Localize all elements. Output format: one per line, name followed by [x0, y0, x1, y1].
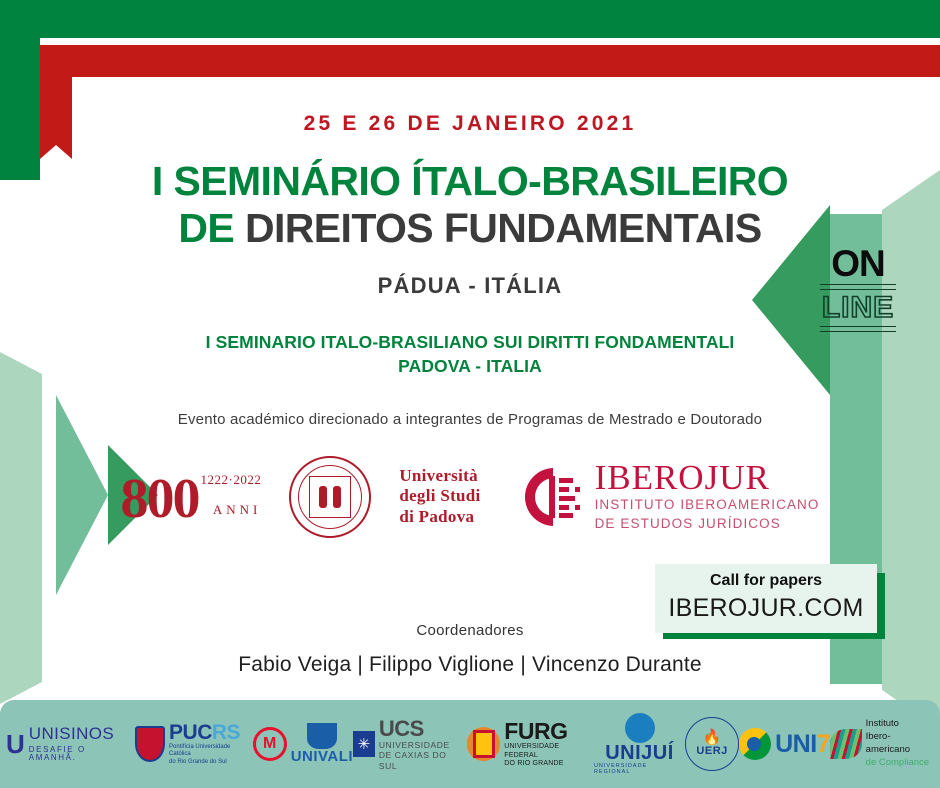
iberojur-logo: IBEROJUR INSTITUTO IBEROAMERICANO DE EST… — [523, 460, 820, 533]
padova-800-anni: ANNI — [200, 502, 261, 518]
furg-icon — [467, 727, 501, 761]
padova-name-line1: Università — [399, 466, 480, 487]
seal-figure-left — [319, 486, 327, 508]
pucrs-name: PUCRS — [169, 722, 253, 744]
compliance-institute-icon — [830, 729, 862, 759]
sponsor-ucs: ✳ UCS UNIVERSIDADE DE CAXIAS DO SUL — [353, 717, 467, 771]
univali-wordmark: UNIVALI — [291, 723, 353, 765]
title-line1: I SEMINÁRIO ÍTALO-BRASILEIRO — [152, 158, 788, 204]
iberojur-sub1: INSTITUTO IBEROAMERICANO — [595, 497, 820, 514]
unijui-sub1: UNIVERSIDADE REGIONAL — [594, 764, 685, 776]
sponsor-unisinos: U UNISINOS DESAFIE O AMANHÃ. — [6, 725, 135, 763]
cfp-url-link[interactable]: IBEROJUR.COM — [665, 594, 867, 623]
compliance-institute-wordmark: Instituto Ibero-americano de Compliance — [866, 718, 934, 769]
sponsor-compliance-institute: Instituto Ibero-americano de Compliance — [830, 718, 934, 769]
online-rule-bottom — [820, 326, 896, 332]
uni7-name: UNI7 — [775, 730, 830, 759]
online-top-text: ON — [818, 246, 898, 281]
cfp-box[interactable]: Call for papers IBEROJUR.COM — [655, 564, 877, 633]
padova-800-number: 800 — [120, 477, 198, 522]
pucrs-sub2: do Rio Grande do Sul — [169, 759, 253, 766]
sponsor-uerj: 🔥 UERJ — [685, 717, 739, 771]
unisinos-name: UNISINOS — [29, 725, 136, 743]
online-bottom-text: LINE — [818, 293, 898, 323]
iberojur-sub2: DE ESTUDOS JURÍDICOS — [595, 516, 820, 533]
ucs-sub1: UNIVERSIDADE — [379, 740, 467, 750]
ucs-name: UCS — [379, 717, 467, 740]
sponsor-bar: U UNISINOS DESAFIE O AMANHÃ. PUCRS Ponti… — [0, 700, 940, 788]
padova-wordmark: Università degli Studi di Padova — [399, 466, 480, 528]
sponsor-unijui: UNIJUÍ UNIVERSIDADE REGIONAL — [594, 713, 685, 776]
online-badge: ON LINE — [818, 246, 898, 335]
iberojur-globe-icon — [523, 466, 585, 528]
pucrs-name-a: PUC — [169, 721, 212, 744]
padova-seal-icon — [289, 456, 371, 538]
padova-name-line2: degli Studi — [399, 486, 480, 507]
furg-sub2: DO RIO GRANDE — [504, 760, 594, 769]
pucrs-crest-icon — [135, 726, 165, 762]
unisinos-u-icon: U — [6, 731, 25, 757]
furg-icon-inner — [473, 730, 495, 758]
furg-wordmark: FURG UNIVERSIDADE FEDERAL DO RIO GRANDE — [504, 719, 594, 769]
uni7-globe-icon — [739, 728, 771, 760]
furg-sub1: UNIVERSIDADE FEDERAL — [504, 743, 594, 761]
ucs-sub2: DE CAXIAS DO SUL — [379, 750, 467, 770]
uerj-name: UERJ — [696, 746, 727, 758]
italian-subtitle: I SEMINARIO ITALO-BRASILIANO SUI DIRITTI… — [0, 331, 940, 378]
sponsor-pucrs: PUCRS Pontifícia Universidade Católica d… — [135, 722, 252, 766]
sponsor-furg: FURG UNIVERSIDADE FEDERAL DO RIO GRANDE — [467, 719, 594, 769]
ucs-star-icon: ✳ — [353, 731, 375, 757]
compliance-sub2: Ibero-americano — [866, 731, 934, 757]
event-description: Evento académico direcionado a integrant… — [0, 411, 940, 428]
uni7-name-text: UNI — [775, 730, 817, 758]
padova-800-logo: 800 1222·2022 ANNI — [120, 472, 261, 522]
univali-m-icon: M — [253, 727, 287, 761]
title-line2-main: DIREITOS FUNDAMENTAIS — [245, 205, 762, 251]
uerj-seal-icon: 🔥 UERJ — [685, 717, 739, 771]
furg-name: FURG — [504, 719, 594, 743]
coordinators-names: Fabio Veiga | Filippo Viglione | Vincenz… — [0, 653, 940, 677]
padova-name-line3: di Padova — [399, 507, 480, 528]
unijui-wordmark: UNIJUÍ UNIVERSIDADE REGIONAL — [594, 713, 685, 776]
iberojur-name: IBEROJUR — [595, 460, 820, 495]
online-rule-top — [820, 284, 896, 290]
page-title: I SEMINÁRIO ÍTALO-BRASILEIRO DE DIREITOS… — [0, 158, 940, 251]
compliance-sub1: Instituto — [866, 718, 934, 731]
padova-800-side: 1222·2022 ANNI — [200, 472, 261, 518]
event-poster: ON LINE 25 E 26 DE JANEIRO 2021 I SEMINÁ… — [0, 0, 940, 788]
compliance-sub3: de Compliance — [866, 757, 934, 770]
ucs-wordmark: UCS UNIVERSIDADE DE CAXIAS DO SUL — [379, 717, 467, 771]
uerj-flame-icon: 🔥 — [703, 730, 722, 746]
unijui-icon — [625, 713, 655, 743]
pucrs-name-b: RS — [212, 721, 240, 744]
unisinos-tagline: DESAFIE O AMANHÃ. — [29, 746, 136, 763]
organizer-logos: 800 1222·2022 ANNI Università degli Stud… — [0, 456, 940, 538]
unisinos-wordmark: UNISINOS DESAFIE O AMANHÃ. — [29, 725, 136, 763]
call-for-papers-block[interactable]: Call for papers IBEROJUR.COM — [655, 564, 877, 633]
pucrs-wordmark: PUCRS Pontifícia Universidade Católica d… — [169, 722, 253, 766]
uerj-seal-inner: 🔥 UERJ — [696, 730, 727, 757]
iberojur-wordmark: IBEROJUR INSTITUTO IBEROAMERICANO DE EST… — [595, 460, 820, 533]
padova-seal-inner — [309, 476, 351, 518]
unijui-name: UNIJUÍ — [605, 743, 674, 764]
uni7-accent: 7 — [817, 730, 830, 758]
univali-v-icon — [307, 723, 337, 749]
event-date: 25 E 26 DE JANEIRO 2021 — [0, 112, 940, 136]
padova-800-years: 1222·2022 — [200, 472, 261, 488]
sponsor-univali: M UNIVALI — [253, 723, 353, 765]
univali-name: UNIVALI — [291, 749, 353, 765]
sponsor-uni7: UNI7 — [739, 728, 830, 760]
italian-subtitle-line2: PADOVA - ITALIA — [398, 356, 542, 376]
italian-subtitle-line1: I SEMINARIO ITALO-BRASILIANO SUI DIRITTI… — [206, 332, 735, 352]
title-line2-prefix: DE — [178, 205, 234, 251]
pucrs-sub1: Pontifícia Universidade Católica — [169, 744, 253, 758]
cfp-title: Call for papers — [665, 572, 867, 590]
event-location: PÁDUA - ITÁLIA — [0, 273, 940, 299]
seal-figure-right — [333, 486, 341, 508]
